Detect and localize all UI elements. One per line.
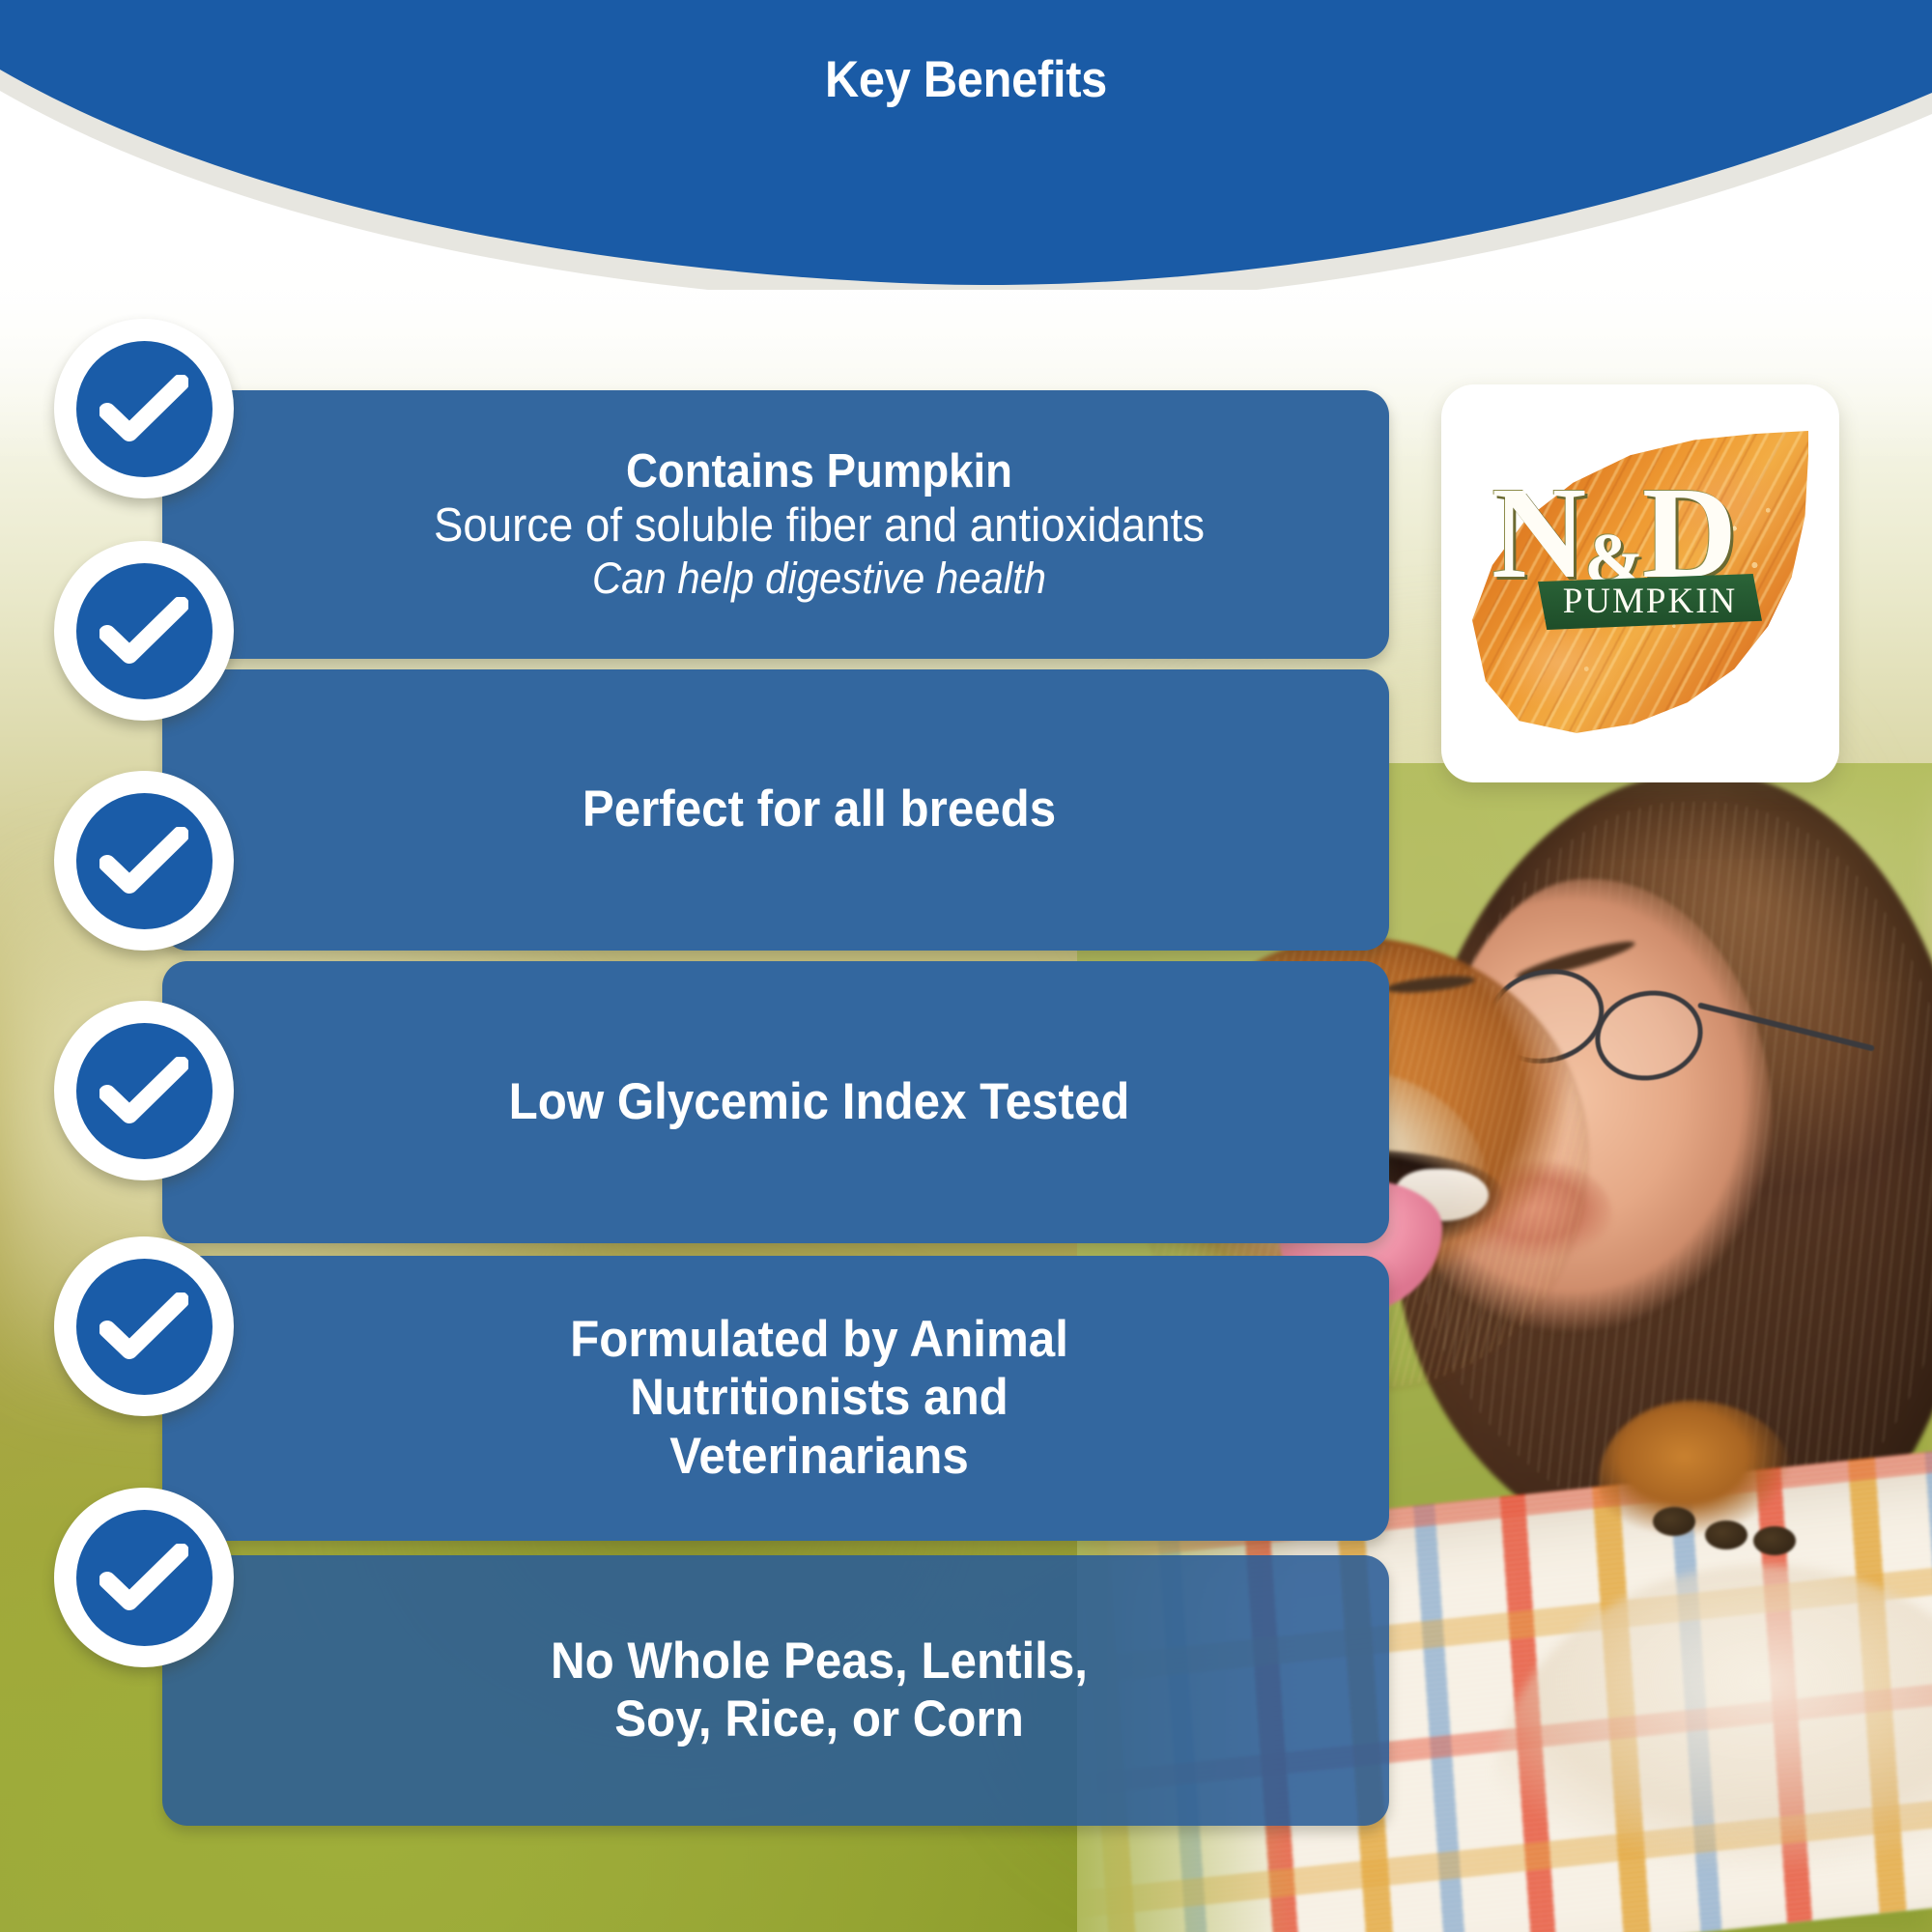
benefit-card-3[interactable]: Low Glycemic Index Tested [162,961,1389,1243]
benefits-list: Contains Pumpkin Source of soluble fiber… [0,0,1932,1932]
check-circle-icon-2 [54,541,234,721]
check-circle-fill [76,563,213,699]
benefit-line: Soy, Rice, or Corn [343,1690,1295,1748]
pumpkin-banner-label: PUMPKIN [1563,581,1738,622]
nd-pumpkin-logo-card: N&D PUMPKIN [1441,384,1839,782]
check-circle-fill [76,1259,213,1395]
benefit-line: Source of soluble fiber and antioxidants [343,499,1295,554]
checkmark-glyph [99,597,188,665]
checkmark-glyph [99,1544,188,1611]
benefit-card-5-text: No Whole Peas, Lentils, Soy, Rice, or Co… [343,1633,1295,1749]
check-circle-icon-3 [54,771,234,951]
benefit-card-1[interactable]: Contains Pumpkin Source of soluble fiber… [162,390,1389,659]
checkmark-glyph [99,827,188,895]
benefit-card-5[interactable]: No Whole Peas, Lentils, Soy, Rice, or Co… [162,1555,1389,1826]
check-circle-fill [76,341,213,477]
benefit-line: Nutritionists and [343,1369,1295,1427]
benefit-line: Contains Pumpkin [343,445,1295,499]
benefit-card-1-text: Contains Pumpkin Source of soluble fiber… [343,445,1295,603]
benefit-card-4-text: Formulated by Animal Nutritionists and V… [343,1311,1295,1486]
check-circle-fill [76,793,213,929]
benefit-line: Formulated by Animal [343,1311,1295,1369]
checkmark-glyph [99,375,188,442]
checkmark-glyph [99,1057,188,1124]
pumpkin-green-banner: PUMPKIN [1538,574,1762,630]
benefit-line: Low Glycemic Index Tested [343,1073,1295,1131]
check-circle-icon-4 [54,1001,234,1180]
check-circle-fill [76,1023,213,1159]
benefit-card-3-text: Low Glycemic Index Tested [343,1073,1295,1131]
benefit-line: Veterinarians [343,1428,1295,1486]
check-circle-fill [76,1510,213,1646]
checkmark-glyph [99,1293,188,1360]
check-circle-icon-5b [54,1488,234,1667]
benefit-line: Can help digestive health [343,554,1295,603]
benefit-card-4[interactable]: Formulated by Animal Nutritionists and V… [162,1256,1389,1541]
benefit-card-2[interactable]: Perfect for all breeds [162,669,1389,951]
check-circle-icon-5 [54,1236,234,1416]
benefit-line: Perfect for all breeds [343,781,1295,838]
benefit-line: No Whole Peas, Lentils, [343,1633,1295,1690]
benefit-card-2-text: Perfect for all breeds [343,781,1295,838]
check-circle-icon-1 [54,319,234,498]
